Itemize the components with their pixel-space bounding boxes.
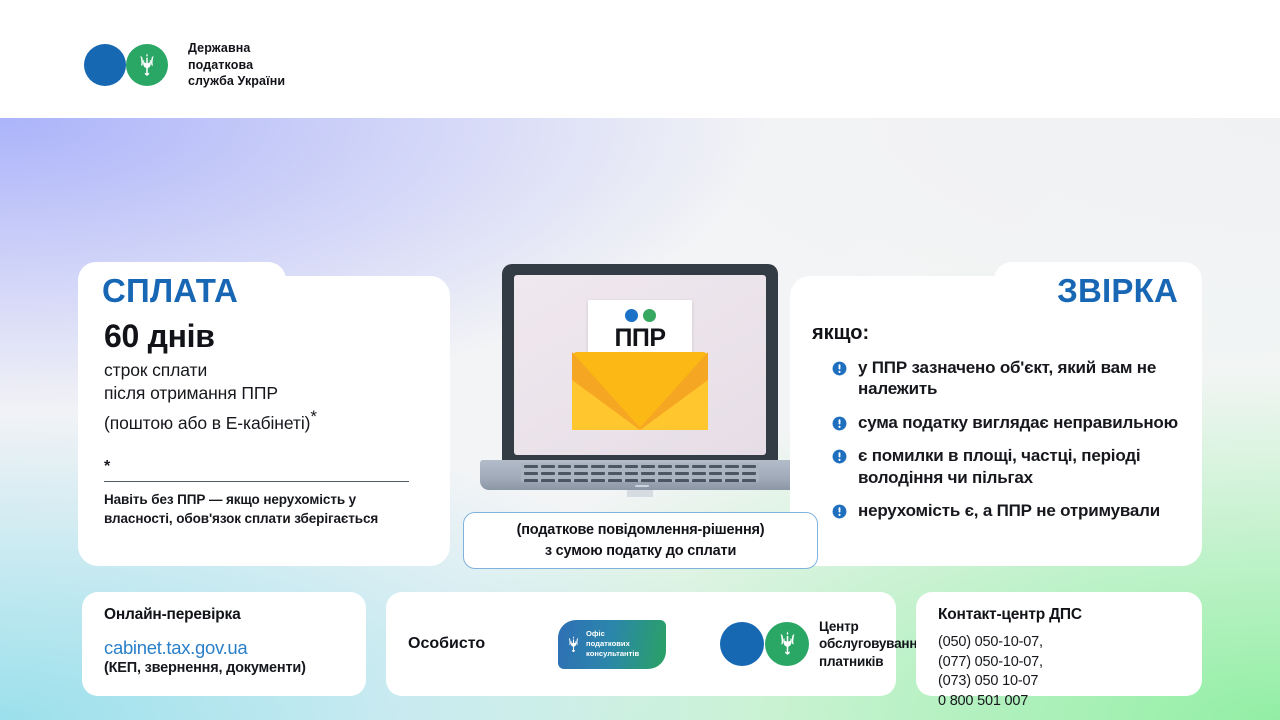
laptop-stand xyxy=(627,490,653,497)
list-item-text: у ППР зазначено об'єкт, який вам не нале… xyxy=(858,357,1182,400)
list-item-text: сума податку виглядає неправильною xyxy=(858,412,1178,433)
cop-logo-group: Центр обслуговування платників xyxy=(720,618,925,671)
laptop-lid: ППР xyxy=(502,264,778,466)
brand-name: Державна податкова служба України xyxy=(188,40,285,90)
info-exclamation-icon xyxy=(832,449,847,464)
keyboard-row xyxy=(521,470,759,477)
online-check-title: Онлайн-перевірка xyxy=(104,606,344,624)
payment-line-3: (поштою або в Е-кабінеті) xyxy=(104,413,310,433)
in-person-card: Особисто Офіс податкових консультантів Ц… xyxy=(386,592,896,696)
footnote-marker: * xyxy=(104,459,424,475)
info-exclamation-icon xyxy=(832,504,847,519)
footnote-block: * Навіть без ППР — якщо нерухомість у вл… xyxy=(104,459,424,528)
brand-logo: Державна податкова служба України xyxy=(84,40,285,90)
tab-reconciliation[interactable]: ЗВІРКА xyxy=(994,262,1202,320)
payment-line-1: строк сплати xyxy=(104,359,424,382)
list-item: нерухомість є, а ППР не отримували xyxy=(832,500,1182,521)
tryzub-glyph xyxy=(138,53,156,77)
laptop-icon: ППР xyxy=(475,264,805,504)
online-check-sub: (КЕП, звернення, документи) xyxy=(104,660,344,676)
laptop-screen: ППР xyxy=(514,275,766,455)
letter-code-text: ППР xyxy=(614,326,665,351)
list-item-text: є помилки в площі, частці, періоді волод… xyxy=(858,445,1182,488)
online-check-card: Онлайн-перевірка cabinet.tax.gov.ua (КЕП… xyxy=(82,592,366,696)
laptop-trackpad xyxy=(635,485,649,487)
reconciliation-bullet-list: у ППР зазначено об'єкт, який вам не нале… xyxy=(812,357,1182,521)
payment-term: 60 днів xyxy=(104,318,424,355)
dot-blue-icon xyxy=(625,309,638,322)
tab-payment[interactable]: СПЛАТА xyxy=(78,262,286,320)
payment-line-2: після отримання ППР xyxy=(104,382,424,405)
keyboard-row xyxy=(521,477,759,482)
opk-badge: Офіс податкових консультантів xyxy=(558,620,666,669)
brand-marks xyxy=(84,44,180,86)
keyboard-row xyxy=(521,463,759,470)
info-exclamation-icon xyxy=(832,361,847,376)
tryzub-glyph xyxy=(778,631,797,656)
tryzub-green-icon xyxy=(765,622,809,666)
contact-center-phones[interactable]: (050) 050-10-07, (077) 050-10-07, (073) … xyxy=(938,633,1180,711)
opk-badge-text: Офіс податкових консультантів xyxy=(586,629,639,659)
infographic-page: Державна податкова служба України Подато… xyxy=(0,0,1280,720)
circle-blue-icon xyxy=(720,622,764,666)
list-item: є помилки в площі, частці, періоді волод… xyxy=(832,445,1182,488)
tryzub-green-icon xyxy=(126,44,168,86)
tab-reconciliation-label: ЗВІРКА xyxy=(1057,272,1178,310)
info-exclamation-icon xyxy=(832,416,847,431)
cop-label: Центр обслуговування платників xyxy=(819,618,925,671)
tab-payment-label: СПЛАТА xyxy=(102,272,238,310)
laptop-keyboard xyxy=(521,463,759,482)
envelope-icon: ППР xyxy=(572,300,708,430)
asterisk-marker: * xyxy=(310,407,317,426)
caption-line-2: з сумою податку до сплати xyxy=(545,541,736,562)
tryzub-white-icon xyxy=(567,636,580,653)
list-item: сума податку виглядає неправильною xyxy=(832,412,1182,433)
cop-marks xyxy=(720,622,809,666)
illustration-caption: (податкове повідомлення-рішення) з сумою… xyxy=(463,512,818,569)
letter-logo-dots xyxy=(625,309,656,322)
caption-line-1: (податкове повідомлення-рішення) xyxy=(517,520,765,541)
envelope-front xyxy=(572,380,708,430)
header-bar: Державна податкова служба України xyxy=(0,0,1280,118)
cabinet-link[interactable]: cabinet.tax.gov.ua xyxy=(104,638,344,658)
contact-center-title: Контакт-центр ДПС xyxy=(938,606,1180,624)
circle-blue-icon xyxy=(84,44,126,86)
list-item: у ППР зазначено об'єкт, який вам не нале… xyxy=(832,357,1182,400)
dot-green-icon xyxy=(643,309,656,322)
if-label: якщо: xyxy=(812,322,1182,345)
list-item-text: нерухомість є, а ППР не отримували xyxy=(858,500,1160,521)
footnote-text: Навіть без ППР — якщо нерухомість у влас… xyxy=(104,490,424,528)
footnote-divider xyxy=(104,481,409,482)
payment-line-3-wrap: (поштою або в Е-кабінеті)* xyxy=(104,406,424,435)
contact-center-card: Контакт-центр ДПС (050) 050-10-07, (077)… xyxy=(916,592,1202,696)
in-person-title: Особисто xyxy=(408,635,558,653)
